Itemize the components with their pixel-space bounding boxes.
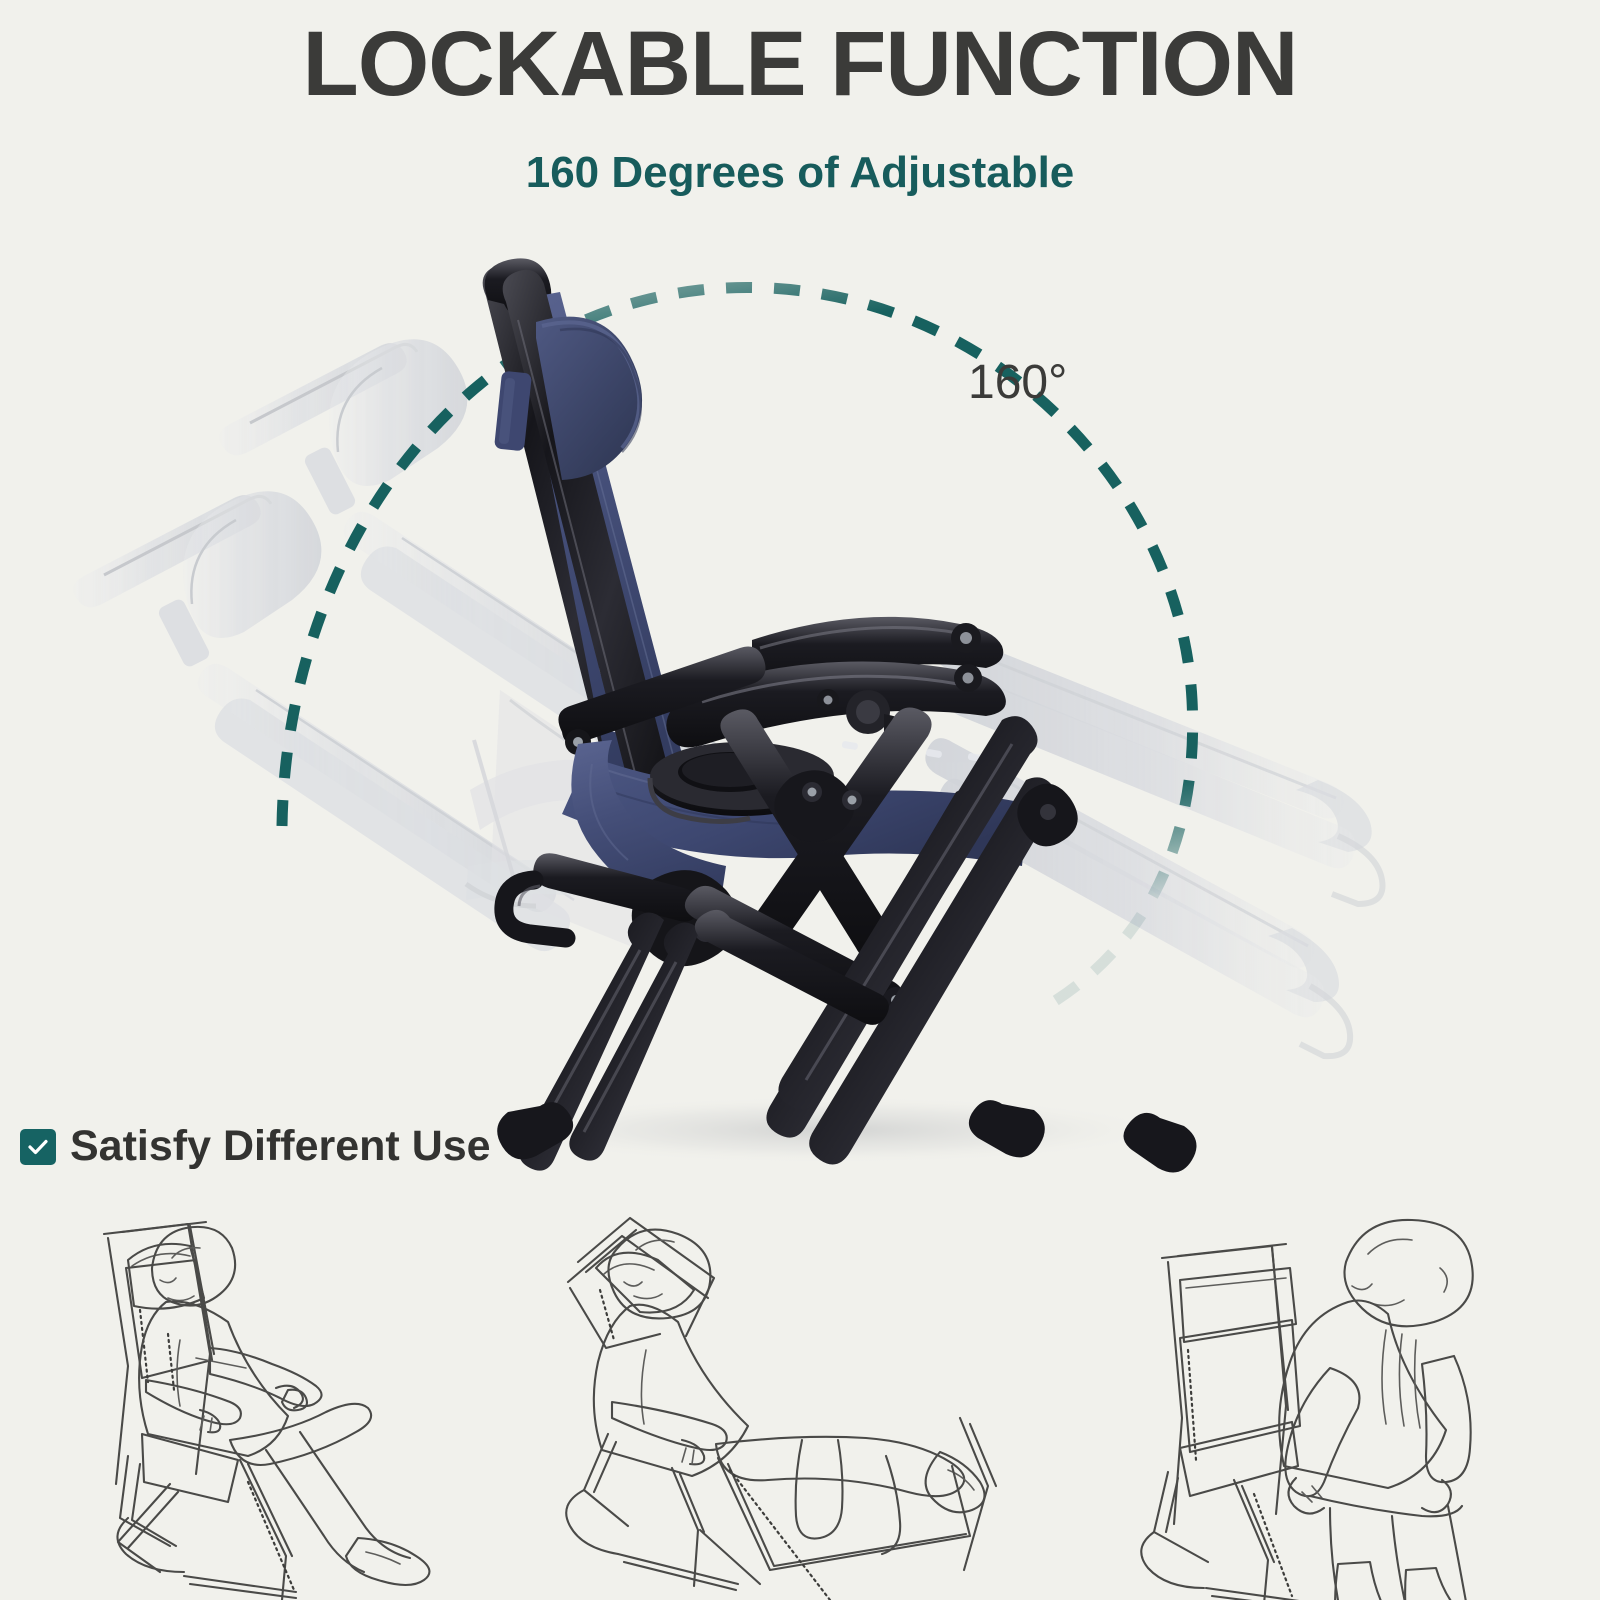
headrest-strap [494, 371, 532, 452]
ghost-footrest-lower [925, 738, 1350, 1056]
check-icon [20, 1129, 56, 1165]
infographic-stage: LOCKABLE FUNCTION 160 Degrees of Adjusta… [0, 0, 1600, 1600]
feature-bullet-row: Satisfy Different Use [20, 1122, 491, 1171]
chair-foot-rear-outer [1123, 1113, 1196, 1173]
chair-seat-fabric [562, 756, 1028, 866]
chair-cross-rail [685, 886, 903, 1014]
ghost-footrest-upper [934, 633, 1382, 904]
chair-front-rail [533, 853, 698, 921]
usage-illustrations [0, 0, 1600, 1600]
chair-front-leg-left [519, 912, 664, 1170]
chair-brace-strut-b [741, 708, 932, 961]
illustration-standing-adjusting [1141, 1220, 1499, 1600]
chair-rear-leg-right [766, 788, 991, 1137]
ghost-seat-left [466, 690, 690, 950]
cup-holder-tray [650, 742, 834, 822]
brace-center-joint [774, 770, 862, 842]
ghost-position-far-left [73, 491, 574, 951]
angle-value-label: 160° [968, 355, 1067, 410]
armrest-rear-bracket [1017, 784, 1077, 847]
chair-backrest-frame-front [503, 270, 672, 806]
chair-brace-strut-a [720, 709, 893, 958]
headrest-pillow [494, 317, 642, 480]
illustration-upright-seated [104, 1222, 429, 1600]
chair-foot-front-left [497, 1102, 573, 1159]
illustration-fully-reclined [566, 1218, 996, 1600]
page-title: LOCKABLE FUNCTION [0, 18, 1600, 110]
chair-seat-scoop [571, 740, 726, 920]
chair-armrest-lower [666, 662, 1006, 748]
chair-front-leg-right [569, 922, 700, 1160]
feature-bullet-label: Satisfy Different Use [70, 1122, 491, 1171]
chair-side-rail [695, 910, 889, 1025]
chair-lower-hub [632, 870, 739, 966]
backrest-bungee-lacing [549, 394, 619, 732]
chair-rear-leg-outer [809, 777, 1058, 1164]
chair-rear-leg-far [778, 716, 1037, 1109]
seat-bungee-lacing [841, 741, 984, 763]
ghost-position-left [219, 339, 724, 830]
floor-shadow [490, 1096, 1170, 1164]
chair-armrest-support [558, 647, 765, 744]
chair-armrest-upper [740, 617, 1003, 695]
recline-lock-lever [817, 689, 928, 740]
chair-foot-rear-right [969, 1100, 1045, 1157]
page-subtitle: 160 Degrees of Adjustable [0, 148, 1600, 198]
main-chair-product [483, 258, 1197, 1172]
chair-recline-diagram [0, 0, 1600, 1600]
chair-backrest-fabric [516, 292, 692, 814]
chair-backrest-frame-rear [483, 264, 648, 788]
